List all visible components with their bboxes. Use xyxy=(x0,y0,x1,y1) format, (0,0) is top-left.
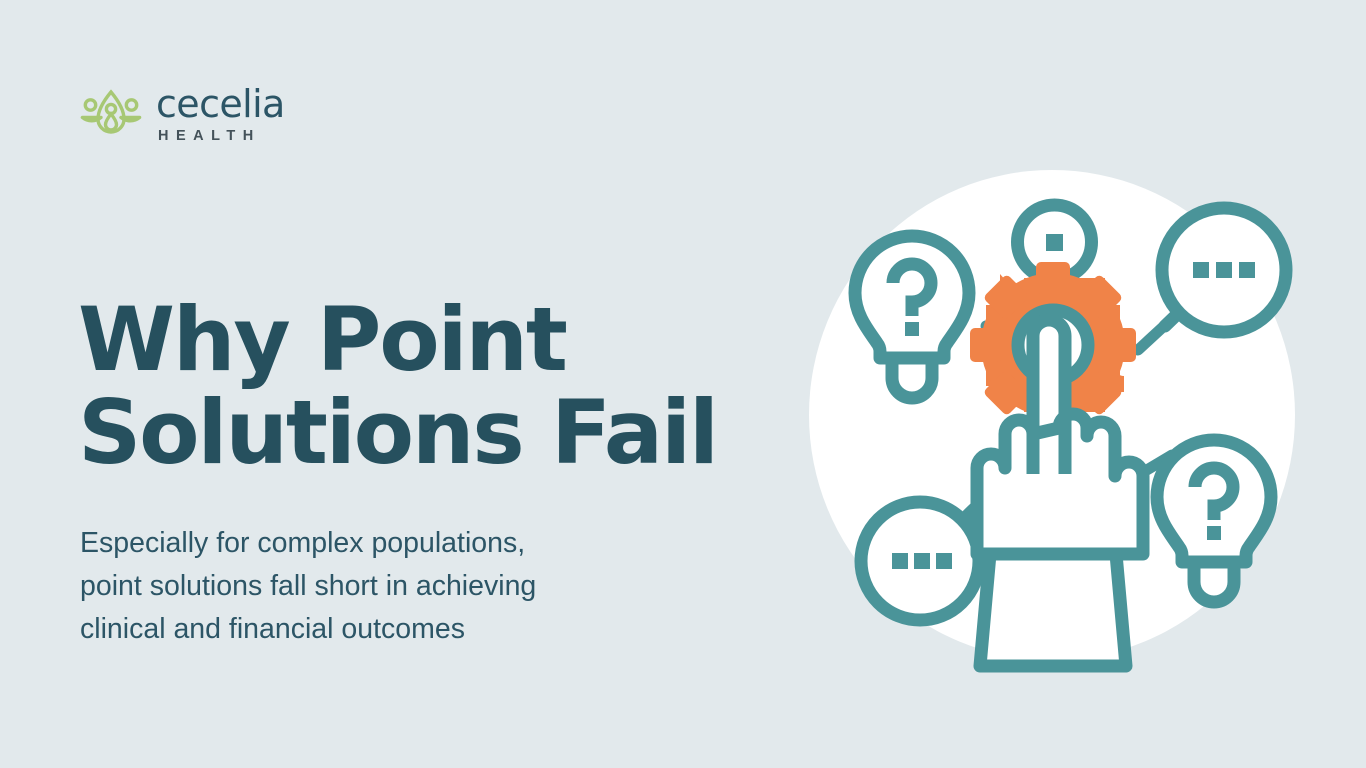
point-solutions-concept-illustration xyxy=(800,150,1320,690)
brand-wordmark: cecelia HEALTH xyxy=(156,84,285,143)
page-subtitle: Especially for complex populations, poin… xyxy=(80,522,700,652)
lotus-people-icon xyxy=(80,84,142,144)
magnifier-ellipsis-icon-upper-right xyxy=(1162,208,1286,332)
brand-name: cecelia xyxy=(156,86,285,122)
brand-logo[interactable]: cecelia HEALTH xyxy=(80,84,285,144)
slide-root: cecelia HEALTH Why Point Solutions Fail … xyxy=(0,0,1366,768)
brand-subname: HEALTH xyxy=(158,128,261,144)
page-title: Why Point Solutions Fail xyxy=(78,293,838,480)
